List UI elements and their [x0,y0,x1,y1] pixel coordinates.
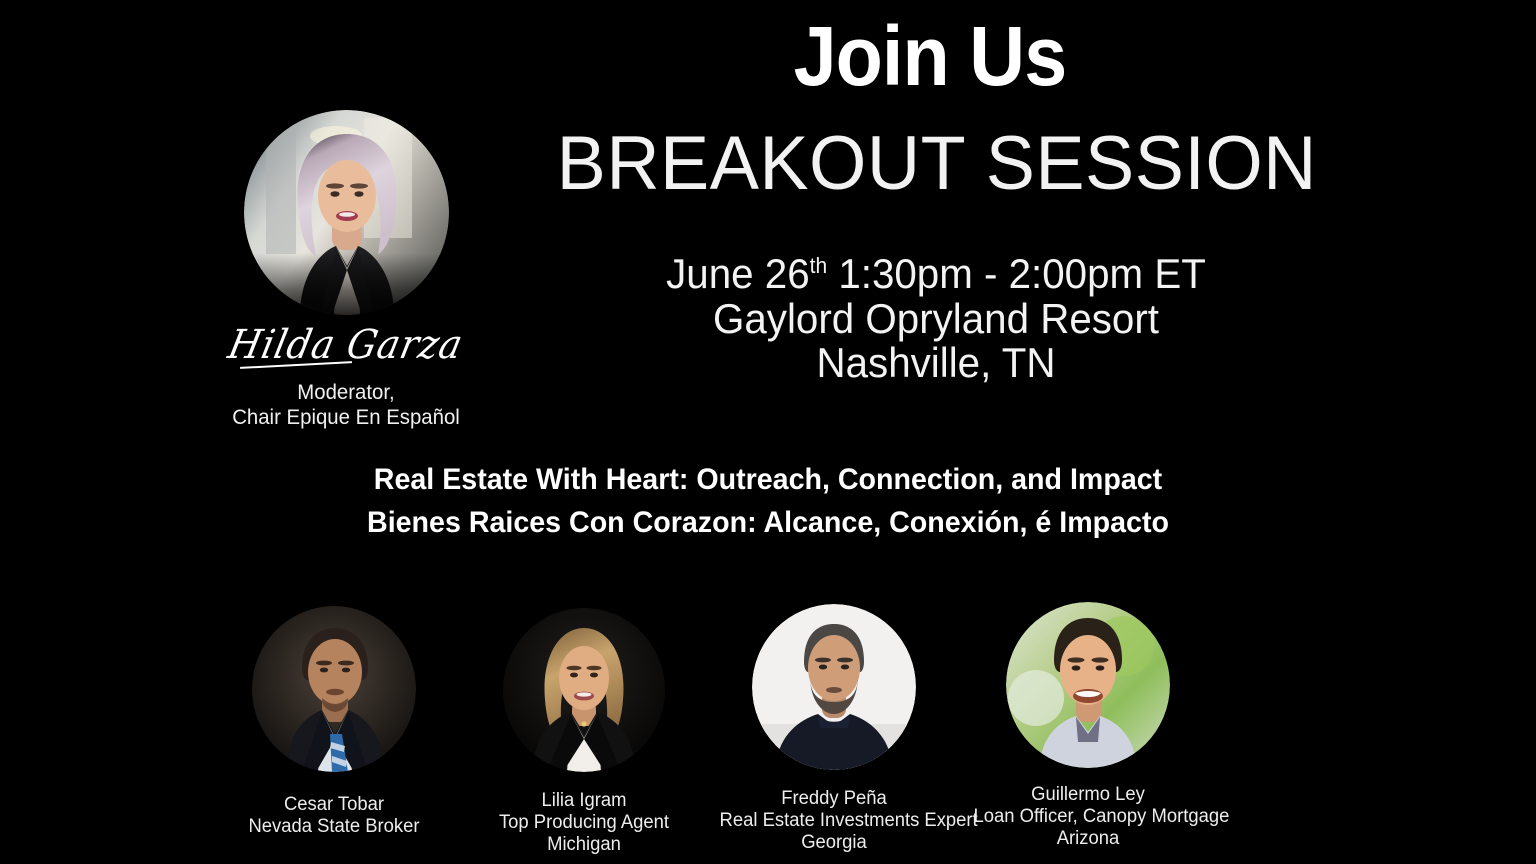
speaker-card: Cesar Tobar Nevada State Broker [218,606,450,838]
speaker-location: Arizona [974,828,1203,850]
speaker-caption: Cesar Tobar Nevada State Broker [221,794,446,838]
freddy-pena-portrait-icon [752,604,916,770]
moderator-signature: Hilda Garza [206,317,486,375]
speaker-photo [503,608,665,772]
speaker-title: Top Producing Agent [471,812,696,834]
event-date-ordinal: th [810,253,827,278]
session-title-spanish: Bienes Raices Con Corazon: Alcance, Cone… [23,501,1513,544]
speaker-location: Michigan [471,834,696,856]
speaker-card: Freddy Peña Real Estate Investments Expe… [716,604,952,854]
hilda-garza-portrait-icon [244,110,449,315]
eyebrow-heading: Join Us [61,14,1474,98]
speaker-name: Freddy Peña [720,788,949,810]
speaker-caption: Lilia Igram Top Producing Agent Michigan [471,790,696,856]
speaker-title: Nevada State Broker [221,816,446,838]
moderator-role-line2: Chair Epique En Español [210,406,482,431]
moderator-photo [244,110,449,315]
speaker-name: Guillermo Ley [974,784,1203,806]
speaker-card: Guillermo Ley Loan Officer, Canopy Mortg… [970,602,1206,850]
cesar-tobar-portrait-icon [252,606,416,772]
session-title-block: Real Estate With Heart: Outreach, Connec… [23,458,1513,545]
speaker-card: Lilia Igram Top Producing Agent Michigan [468,608,700,856]
speaker-location: Georgia [720,832,949,854]
lilia-igram-portrait-icon [503,608,665,772]
moderator-block: Hilda Garza Moderator, Chair Epique En E… [206,110,486,431]
moderator-role: Moderator, Chair Epique En Español [210,381,482,431]
moderator-photo-wrap [244,110,449,315]
moderator-signature-text: Hilda Garza [223,317,468,373]
guillermo-ley-portrait-icon [1006,602,1170,768]
moderator-role-line1: Moderator, [210,381,482,406]
speaker-name: Lilia Igram [471,790,696,812]
speaker-photo [1006,602,1170,768]
speaker-photo [252,606,416,772]
speaker-caption: Guillermo Ley Loan Officer, Canopy Mortg… [974,784,1203,850]
event-date: June 26 [666,250,809,297]
event-city: Nashville, TN [367,341,1506,386]
speaker-title: Loan Officer, Canopy Mortgage [974,806,1203,828]
speaker-photo [752,604,916,770]
event-datetime-line: June 26th 1:30pm - 2:00pm ET [367,252,1506,297]
session-title-english: Real Estate With Heart: Outreach, Connec… [23,458,1513,501]
event-venue: Gaylord Opryland Resort [367,297,1506,342]
speaker-caption: Freddy Peña Real Estate Investments Expe… [720,788,949,854]
event-time: 1:30pm - 2:00pm ET [827,250,1206,297]
speaker-title: Real Estate Investments Expert [720,810,949,832]
slide-canvas: Join Us BREAKOUT SESSION June 26th 1:30p… [0,0,1536,864]
speaker-name: Cesar Tobar [221,794,446,816]
speaker-row: Cesar Tobar Nevada State Broker [218,596,1248,864]
